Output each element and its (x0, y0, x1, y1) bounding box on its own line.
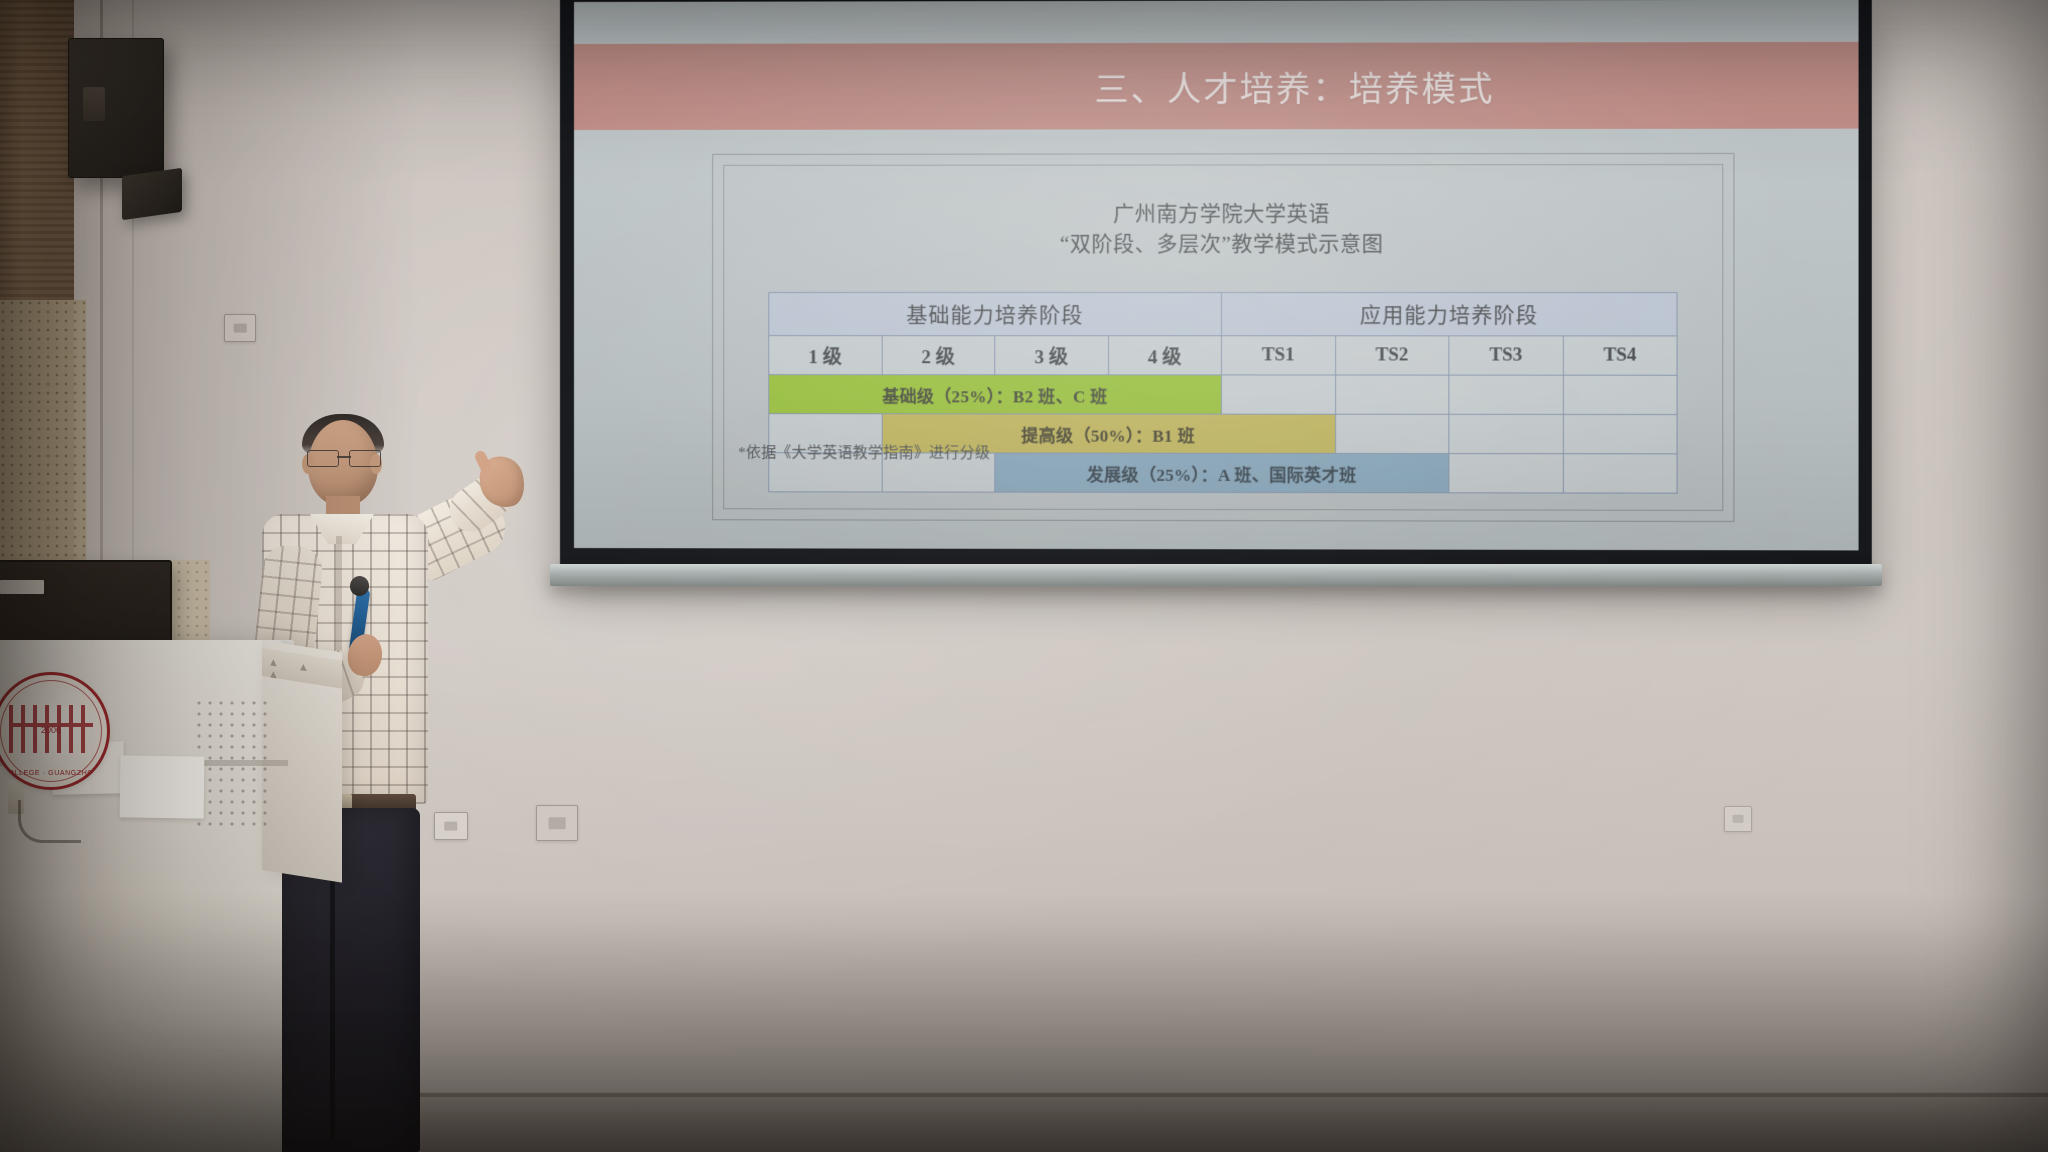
level-header-ts2: TS2 (1335, 336, 1449, 375)
speaker-mount-bracket (122, 168, 182, 220)
presentation-slide: 三、人才培养：培养模式 广州南方学院大学英语 “双阶段、多层次”教学模式示意图 (574, 0, 1859, 550)
level-header-ts1: TS1 (1221, 336, 1335, 375)
level-header-ts4: TS4 (1563, 336, 1677, 375)
level-header-3: 3 级 (995, 336, 1108, 375)
empty-cell (1449, 454, 1563, 493)
table-row-stage-headers: 基础能力培养阶段 应用能力培养阶段 (769, 293, 1677, 336)
presenter-shoe (272, 1140, 350, 1152)
empty-cell (1449, 414, 1563, 453)
university-emblem: 2006 COLLEGE · GUANGZHOU (0, 672, 110, 790)
level-header-4: 4 级 (1108, 336, 1221, 375)
level-header-ts3: TS3 (1449, 336, 1563, 375)
screen-bottom-roller (550, 564, 1882, 586)
podium-cable (18, 800, 81, 843)
band-cell-basic: 基础级（25%）：B2 班、C 班 (769, 375, 1222, 414)
wall-speaker (68, 38, 164, 178)
wall-socket-upper (224, 314, 256, 342)
band-cell-development: 发展级（25%）：A 班、国际英才班 (995, 453, 1449, 493)
slide-heading: 广州南方学院大学英语 “双阶段、多层次”教学模式示意图 (724, 199, 1722, 259)
table-row-level-headers: 1 级 2 级 3 级 4 级 TS1 TS2 TS3 TS4 (769, 336, 1677, 376)
slide-heading-line-2: “双阶段、多层次”教学模式示意图 (724, 229, 1722, 259)
empty-cell (1221, 375, 1335, 414)
slide-outer-frame: 广州南方学院大学英语 “双阶段、多层次”教学模式示意图 (712, 153, 1734, 522)
screen-frame: 三、人才培养：培养模式 广州南方学院大学英语 “双阶段、多层次”教学模式示意图 (560, 0, 1872, 573)
lecture-hall-photo: 三、人才培养：培养模式 广州南方学院大学英语 “双阶段、多层次”教学模式示意图 (0, 0, 2048, 1152)
slide-footnote: *依据《大学英语教学指南》进行分级 (738, 441, 990, 462)
empty-cell (1449, 375, 1563, 414)
empty-cell (1335, 414, 1449, 453)
empty-cell (1335, 375, 1449, 414)
wall-socket-lower-center (536, 805, 578, 841)
slide-body: 广州南方学院大学英语 “双阶段、多层次”教学模式示意图 (574, 129, 1859, 551)
monitor-sticker (0, 580, 44, 594)
podium-paper-sheet-secondary (120, 755, 205, 818)
emblem-year: 2006 (0, 725, 107, 735)
empty-cell (1563, 454, 1677, 493)
stage-header-applied: 应用能力培养阶段 (1221, 293, 1677, 336)
stage-header-basic: 基础能力培养阶段 (769, 293, 1222, 336)
empty-cell (1563, 414, 1677, 453)
slide-title-bar: 三、人才培养：培养模式 (574, 42, 1859, 130)
emblem-caption: COLLEGE · GUANGZHOU (0, 770, 107, 777)
slide-inner-frame: 广州南方学院大学英语 “双阶段、多层次”教学模式示意图 (723, 164, 1723, 511)
glasses-icon (306, 450, 382, 466)
floor-wall-junction-line (380, 1093, 2048, 1097)
presenter-leg-separation (330, 866, 335, 1152)
slide-top-band (574, 0, 1859, 44)
teaching-model-table: 基础能力培养阶段 应用能力培养阶段 1 级 2 级 3 级 4 级 (768, 292, 1677, 494)
screen-surface: 三、人才培养：培养模式 广州南方学院大学英语 “双阶段、多层次”教学模式示意图 (574, 0, 1859, 550)
slide-title: 三、人才培养：培养模式 (933, 61, 1494, 111)
level-header-1: 1 级 (769, 336, 882, 375)
level-header-2: 2 级 (882, 336, 995, 375)
table-row-band-basic: 基础级（25%）：B2 班、C 班 (769, 375, 1677, 415)
empty-cell (1563, 375, 1677, 414)
slide-heading-line-1: 广州南方学院大学英语 (724, 199, 1722, 229)
projection-screen: 三、人才培养：培养模式 广州南方学院大学英语 “双阶段、多层次”教学模式示意图 (560, 0, 1860, 570)
podium-speaker-grille (196, 700, 270, 828)
wall-socket-lower-right (1724, 806, 1752, 832)
